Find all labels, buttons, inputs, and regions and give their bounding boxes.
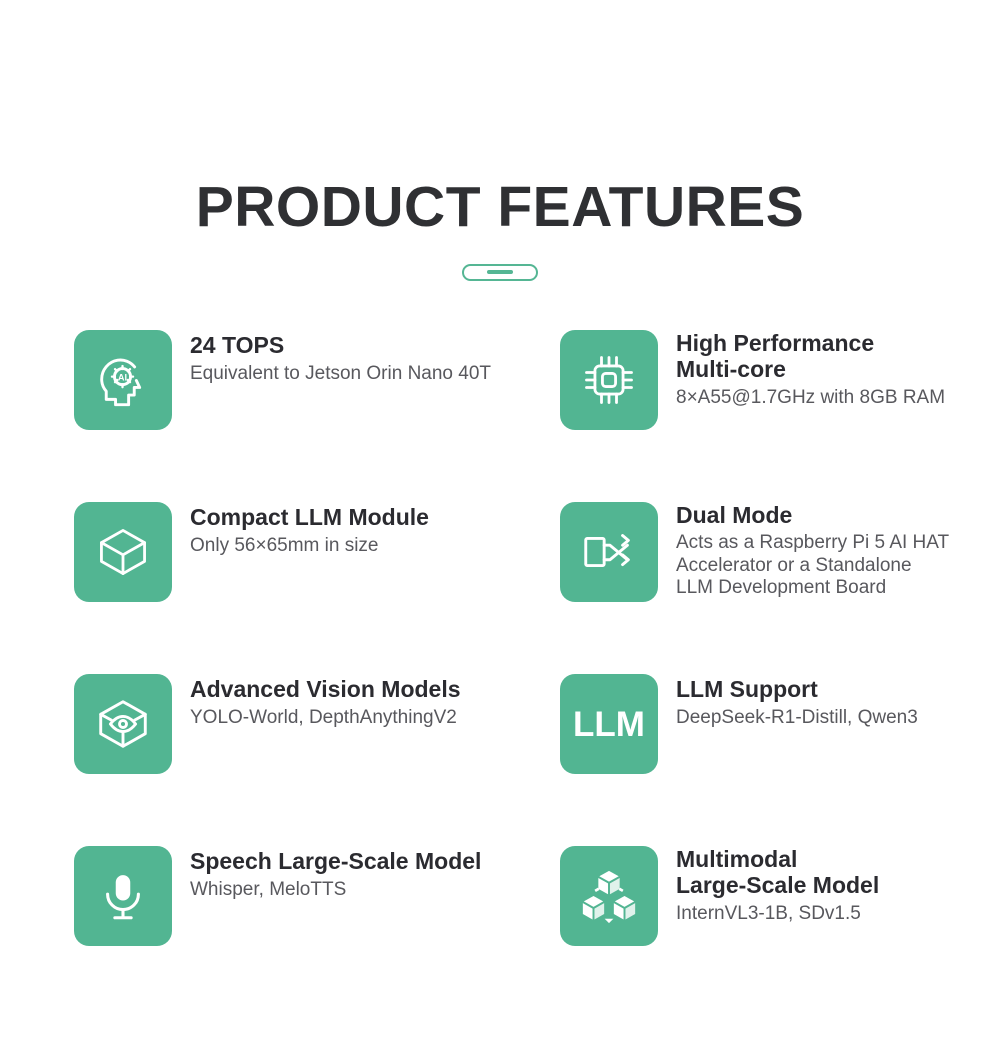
feature-item-llm-support: LLM LLM Support DeepSeek-R1-Distill, Qwe…	[560, 674, 1000, 774]
page-title: PRODUCT FEATURES	[0, 178, 1000, 238]
shuffle-board-icon	[560, 502, 658, 602]
svg-text:AI: AI	[118, 373, 127, 383]
feature-item-high-performance-multi-core: High Performance Multi-core 8×A55@1.7GHz…	[560, 330, 1000, 430]
feature-text-block: 24 TOPS Equivalent to Jetson Orin Nano 4…	[190, 330, 491, 386]
feature-item-dual-mode: Dual Mode Acts as a Raspberry Pi 5 AI HA…	[560, 502, 1000, 602]
feature-text-block: Speech Large-Scale Model Whisper, MeloTT…	[190, 846, 481, 902]
feature-item-speech-large-scale-model: Speech Large-Scale Model Whisper, MeloTT…	[74, 846, 567, 946]
feature-text-block: Dual Mode Acts as a Raspberry Pi 5 AI HA…	[676, 502, 949, 600]
feature-title: Advanced Vision Models	[190, 676, 461, 702]
cpu-chip-icon	[560, 330, 658, 430]
feature-title: 24 TOPS	[190, 332, 491, 358]
llm-icon-label: LLM	[573, 707, 645, 742]
feature-text-block: High Performance Multi-core 8×A55@1.7GHz…	[676, 330, 945, 409]
feature-item-advanced-vision-models: Advanced Vision Models YOLO-World, Depth…	[74, 674, 567, 774]
feature-item-multimodal-large-scale-model: Multimodal Large-Scale Model InternVL3-1…	[560, 846, 1000, 946]
cube-cluster-icon	[560, 846, 658, 946]
feature-title: LLM Support	[676, 676, 918, 702]
feature-description: DeepSeek-R1-Distill, Qwen3	[676, 707, 918, 729]
page-header: PRODUCT FEATURES	[0, 178, 1000, 281]
feature-grid: AI 24 TOPS Equivalent to Jetson Orin Nan…	[0, 330, 1000, 946]
feature-title: Compact LLM Module	[190, 504, 429, 530]
feature-title: High Performance Multi-core	[676, 330, 945, 383]
divider-dash-icon	[487, 270, 513, 274]
feature-description: Only 56×65mm in size	[190, 535, 429, 557]
feature-text-block: Multimodal Large-Scale Model InternVL3-1…	[676, 846, 879, 925]
feature-title: Speech Large-Scale Model	[190, 848, 481, 874]
feature-text-block: Advanced Vision Models YOLO-World, Depth…	[190, 674, 461, 730]
pill-divider-icon	[462, 264, 538, 281]
feature-description: InternVL3-1B, SDv1.5	[676, 903, 879, 925]
feature-description: Acts as a Raspberry Pi 5 AI HAT Accelera…	[676, 532, 949, 599]
feature-text-block: Compact LLM Module Only 56×65mm in size	[190, 502, 429, 558]
feature-description: Equivalent to Jetson Orin Nano 40T	[190, 363, 491, 385]
feature-title: Multimodal Large-Scale Model	[676, 846, 879, 899]
feature-title: Dual Mode	[676, 502, 949, 528]
cube-eye-icon	[74, 674, 172, 774]
llm-text-icon: LLM	[560, 674, 658, 774]
feature-description: 8×A55@1.7GHz with 8GB RAM	[676, 387, 945, 409]
feature-item-24-tops: AI 24 TOPS Equivalent to Jetson Orin Nan…	[74, 330, 567, 430]
microphone-icon	[74, 846, 172, 946]
feature-text-block: LLM Support DeepSeek-R1-Distill, Qwen3	[676, 674, 918, 730]
cube-icon	[74, 502, 172, 602]
feature-item-compact-llm-module: Compact LLM Module Only 56×65mm in size	[74, 502, 567, 602]
feature-description: YOLO-World, DepthAnythingV2	[190, 707, 461, 729]
ai-head-icon: AI	[74, 330, 172, 430]
product-features-page: PRODUCT FEATURES AI 24 TOPS Eq	[0, 0, 1000, 1059]
feature-description: Whisper, MeloTTS	[190, 879, 481, 901]
